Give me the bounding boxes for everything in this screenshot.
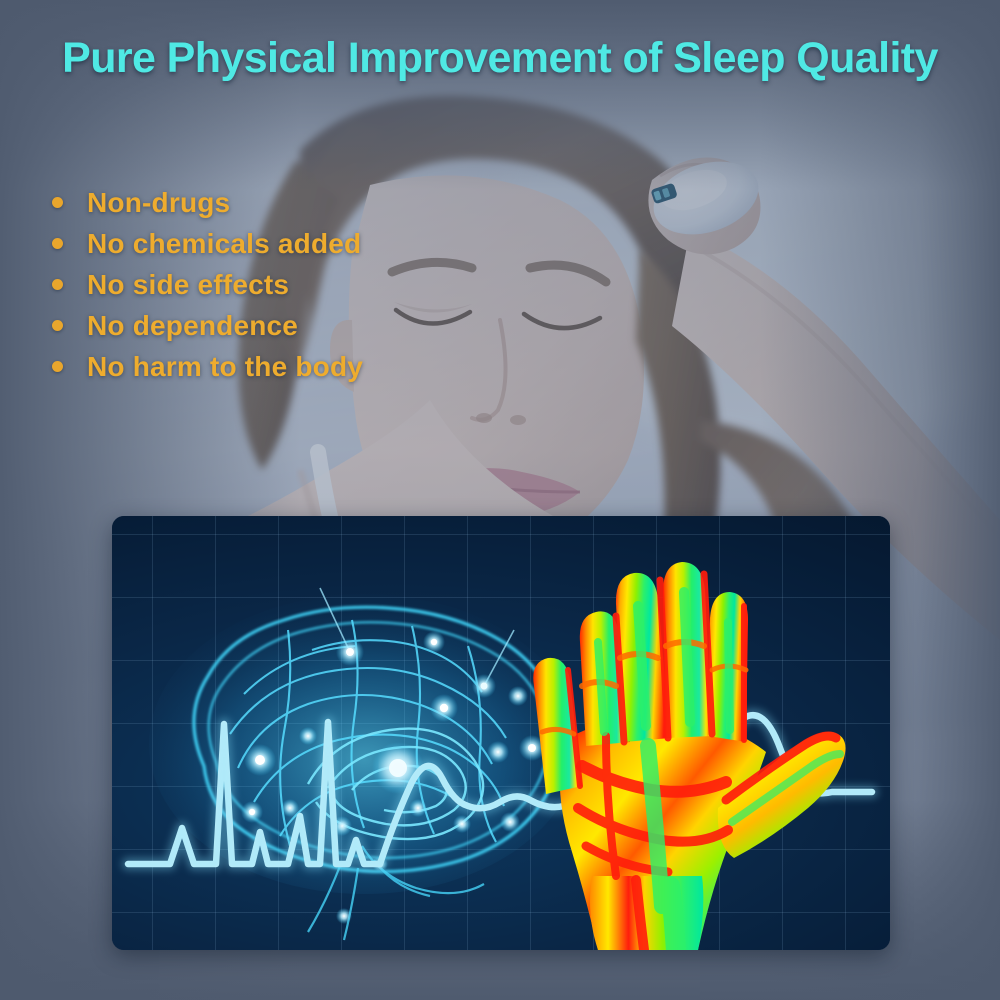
benefit-label: No dependence: [87, 310, 298, 342]
bullet-dot-icon: [52, 361, 63, 372]
bullet-dot-icon: [52, 320, 63, 331]
list-item: No chemicals added: [52, 223, 363, 264]
list-item: No side effects: [52, 264, 363, 305]
diagram-panel: [112, 516, 890, 950]
benefit-label: No harm to the body: [87, 351, 363, 383]
benefit-label: No side effects: [87, 269, 289, 301]
list-item: No harm to the body: [52, 346, 363, 387]
bullet-dot-icon: [52, 197, 63, 208]
poster-canvas: Pure Physical Improvement of Sleep Quali…: [0, 0, 1000, 1000]
bullet-dot-icon: [52, 238, 63, 249]
page-title: Pure Physical Improvement of Sleep Quali…: [0, 34, 1000, 83]
thermal-hand-svg: [520, 546, 850, 950]
benefit-label: Non-drugs: [87, 187, 230, 219]
benefit-label: No chemicals added: [87, 228, 361, 260]
thermal-hand-image: [520, 546, 850, 950]
list-item: No dependence: [52, 305, 363, 346]
bullet-dot-icon: [52, 279, 63, 290]
benefits-list: Non-drugs No chemicals added No side eff…: [52, 182, 363, 387]
list-item: Non-drugs: [52, 182, 363, 223]
